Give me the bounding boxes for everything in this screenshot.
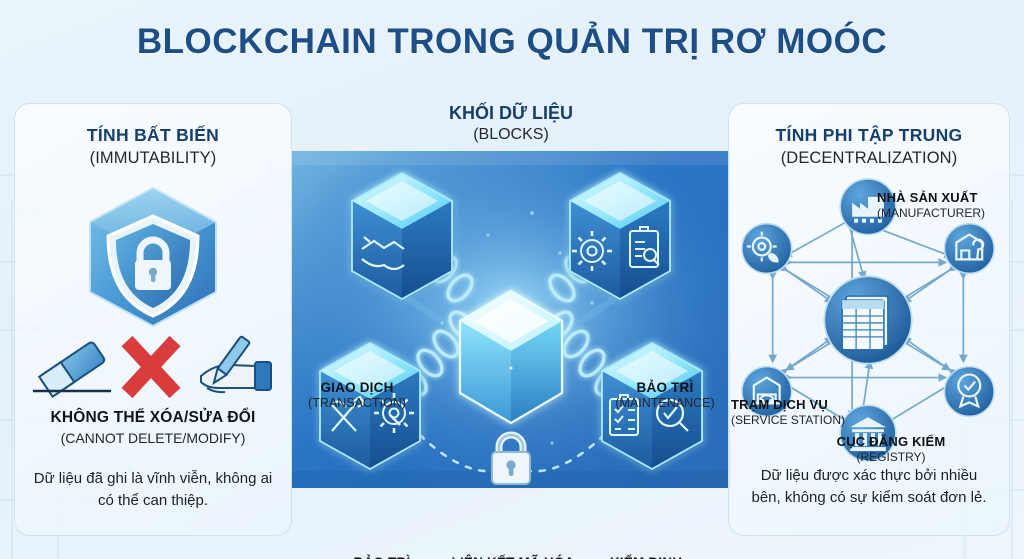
node-certified (944, 367, 994, 417)
hand-pen-icon (201, 336, 271, 392)
eraser-icon (33, 341, 111, 397)
block-label-encrypted-link: LIÊN KẾT MÃ HÓA (ENCRYPTED LINK) (440, 555, 586, 559)
block-label-maintenance-bottom: BẢO TRÌ (MAINTENANCE) (320, 555, 444, 559)
left-panel-subtitle: (IMMUTABILITY) (15, 149, 291, 168)
block-maintenance-top (570, 173, 670, 299)
ledger-book-icon (842, 296, 888, 350)
decentralization-caption: Dữ liệu được xác thực bởi nhiều bên, khô… (745, 465, 993, 509)
node-ledger-hub (824, 276, 911, 363)
cannot-modify-headline: KHÔNG THỂ XÓA/SỬA ĐỔI (15, 409, 291, 427)
right-panel-title: TÍNH PHI TẬP TRUNG (729, 125, 1009, 146)
left-panel-title: TÍNH BẤT BIẾN (15, 125, 291, 146)
panel-decentralization: TÍNH PHI TẬP TRUNG (DECENTRALIZATION) (728, 103, 1010, 536)
immutability-caption: Dữ liệu đã ghi là vĩnh viễn, không ai có… (31, 468, 275, 512)
cannot-modify-headline-en: (CANNOT DELETE/MODIFY) (15, 430, 291, 446)
node-label-service-station: TRẠM DỊCH VỤ (SERVICE STATION) (731, 397, 845, 427)
blocks-section: KHỐI DỮ LIỆU (BLOCKS) (292, 103, 730, 536)
cannot-modify-icon-row (23, 332, 283, 402)
panel-immutability: TÍNH BẤT BIẾN (IMMUTABILITY) (14, 103, 292, 536)
block-label-inspection: KIỂM ĐỊNH (INSPECTION) (582, 555, 710, 559)
node-label-registry: CỤC ĐĂNG KIỂM (REGISTRY) (791, 434, 991, 464)
node-label-manufacturer: NHÀ SẢN XUẤT (MANUFACTURER) (877, 190, 985, 220)
shield-padlock-icon (80, 182, 226, 337)
block-transaction (352, 173, 452, 299)
node-workshop (944, 224, 994, 274)
center-subtitle: (BLOCKS) (292, 126, 730, 144)
block-label-transaction: GIAO DỊCH (TRANSACTION) (296, 380, 418, 411)
block-label-maintenance-top: BẢO TRÌ (MAINTENANCE) (602, 380, 728, 411)
node-parts (742, 224, 792, 274)
block-core (460, 291, 562, 423)
page-title: BLOCKCHAIN TRONG QUẢN TRỊ RƠ MOÓC (0, 22, 1024, 62)
center-title: KHỐI DỮ LIỆU (292, 103, 730, 124)
red-x-icon (127, 341, 175, 393)
